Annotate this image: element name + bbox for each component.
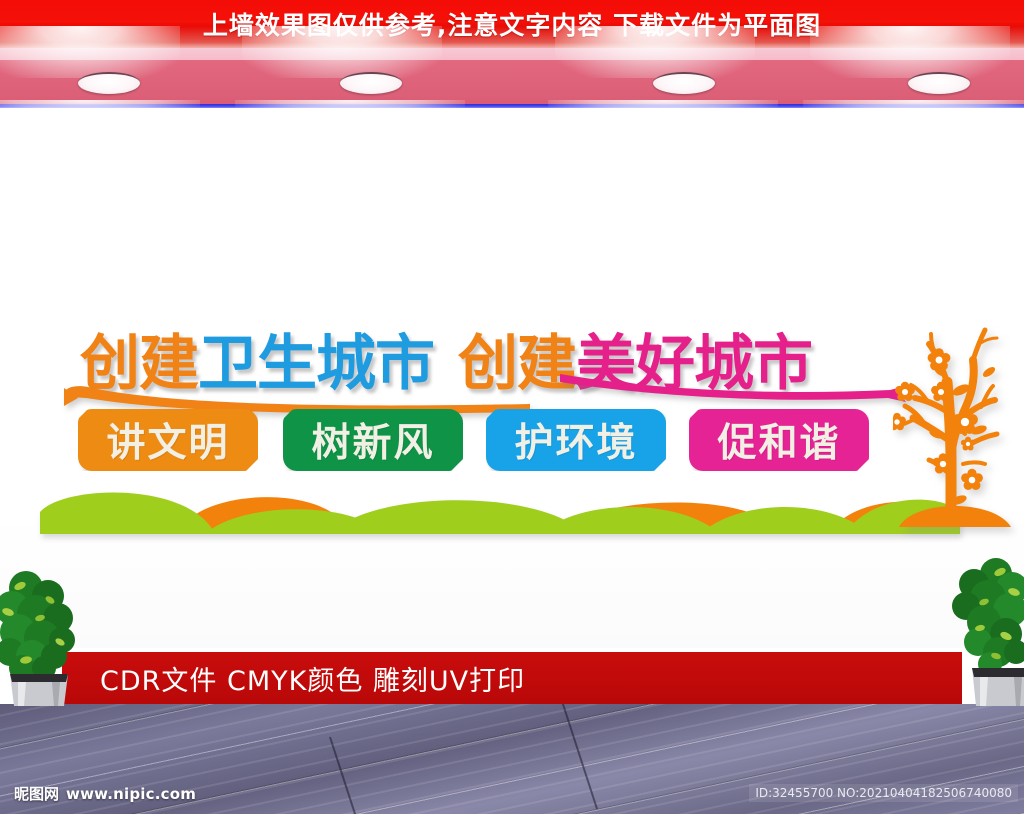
slogan-badge-row: 讲文明 树新风 护环境 促和谐 <box>78 409 878 471</box>
downlight-4 <box>908 72 970 94</box>
light-glow-4 <box>810 26 1010 78</box>
badge-label-4: 促和谐 <box>717 412 840 468</box>
plant-foliage-left <box>0 571 75 681</box>
badge-jiangwenming[interactable]: 讲文明 <box>78 409 258 471</box>
bottom-spec-text: CDR文件 CMYK颜色 雕刻UV打印 <box>62 659 525 698</box>
plant-foliage-right <box>952 558 1024 676</box>
downlight-2 <box>340 72 402 94</box>
floor-seam-2 <box>559 704 598 809</box>
badge-label-2: 树新风 <box>311 412 434 468</box>
plant-pot-left <box>10 674 68 706</box>
bottom-spec-banner: CDR文件 CMYK颜色 雕刻UV打印 <box>62 652 962 704</box>
light-glow-1 <box>0 26 180 78</box>
light-spill-2 <box>235 100 465 116</box>
watermark-logo: 昵图网 <box>14 783 59 804</box>
badge-label-3: 护环境 <box>514 412 637 468</box>
downlight-3 <box>653 72 715 94</box>
light-spill-3 <box>548 100 778 116</box>
badge-huhuanjing[interactable]: 护环境 <box>486 409 666 471</box>
light-spill-1 <box>0 100 200 116</box>
downlight-1 <box>78 72 140 94</box>
potted-plant-left <box>0 556 92 706</box>
watermark-url: www.nipic.com <box>66 785 196 803</box>
potted-plant-right <box>940 548 1024 706</box>
floor-seam-1 <box>329 737 374 814</box>
badge-label-1: 讲文明 <box>106 412 229 468</box>
image-id-tag: ID:32455700 NO:20210404182506740080 <box>749 784 1018 802</box>
light-spill-4 <box>803 100 1024 116</box>
tree-base-mound <box>899 506 1011 527</box>
magenta-swoosh-underline <box>560 372 910 412</box>
light-glow-3 <box>555 26 755 78</box>
plant-pot-right <box>972 668 1024 706</box>
decorative-tree <box>893 312 1013 527</box>
light-glow-2 <box>242 26 442 78</box>
hill-green-1 <box>40 493 215 534</box>
screenshot-root: 上墙效果图仅供参考,注意文字内容 下载文件为平面图 创建卫生城市创建美好城市 讲… <box>0 0 1024 814</box>
badge-shuxinfeng[interactable]: 树新风 <box>283 409 463 471</box>
badge-cuhexie[interactable]: 促和谐 <box>689 409 869 471</box>
decorative-hills <box>40 472 960 534</box>
watermark: 昵图网 www.nipic.com <box>14 783 196 804</box>
